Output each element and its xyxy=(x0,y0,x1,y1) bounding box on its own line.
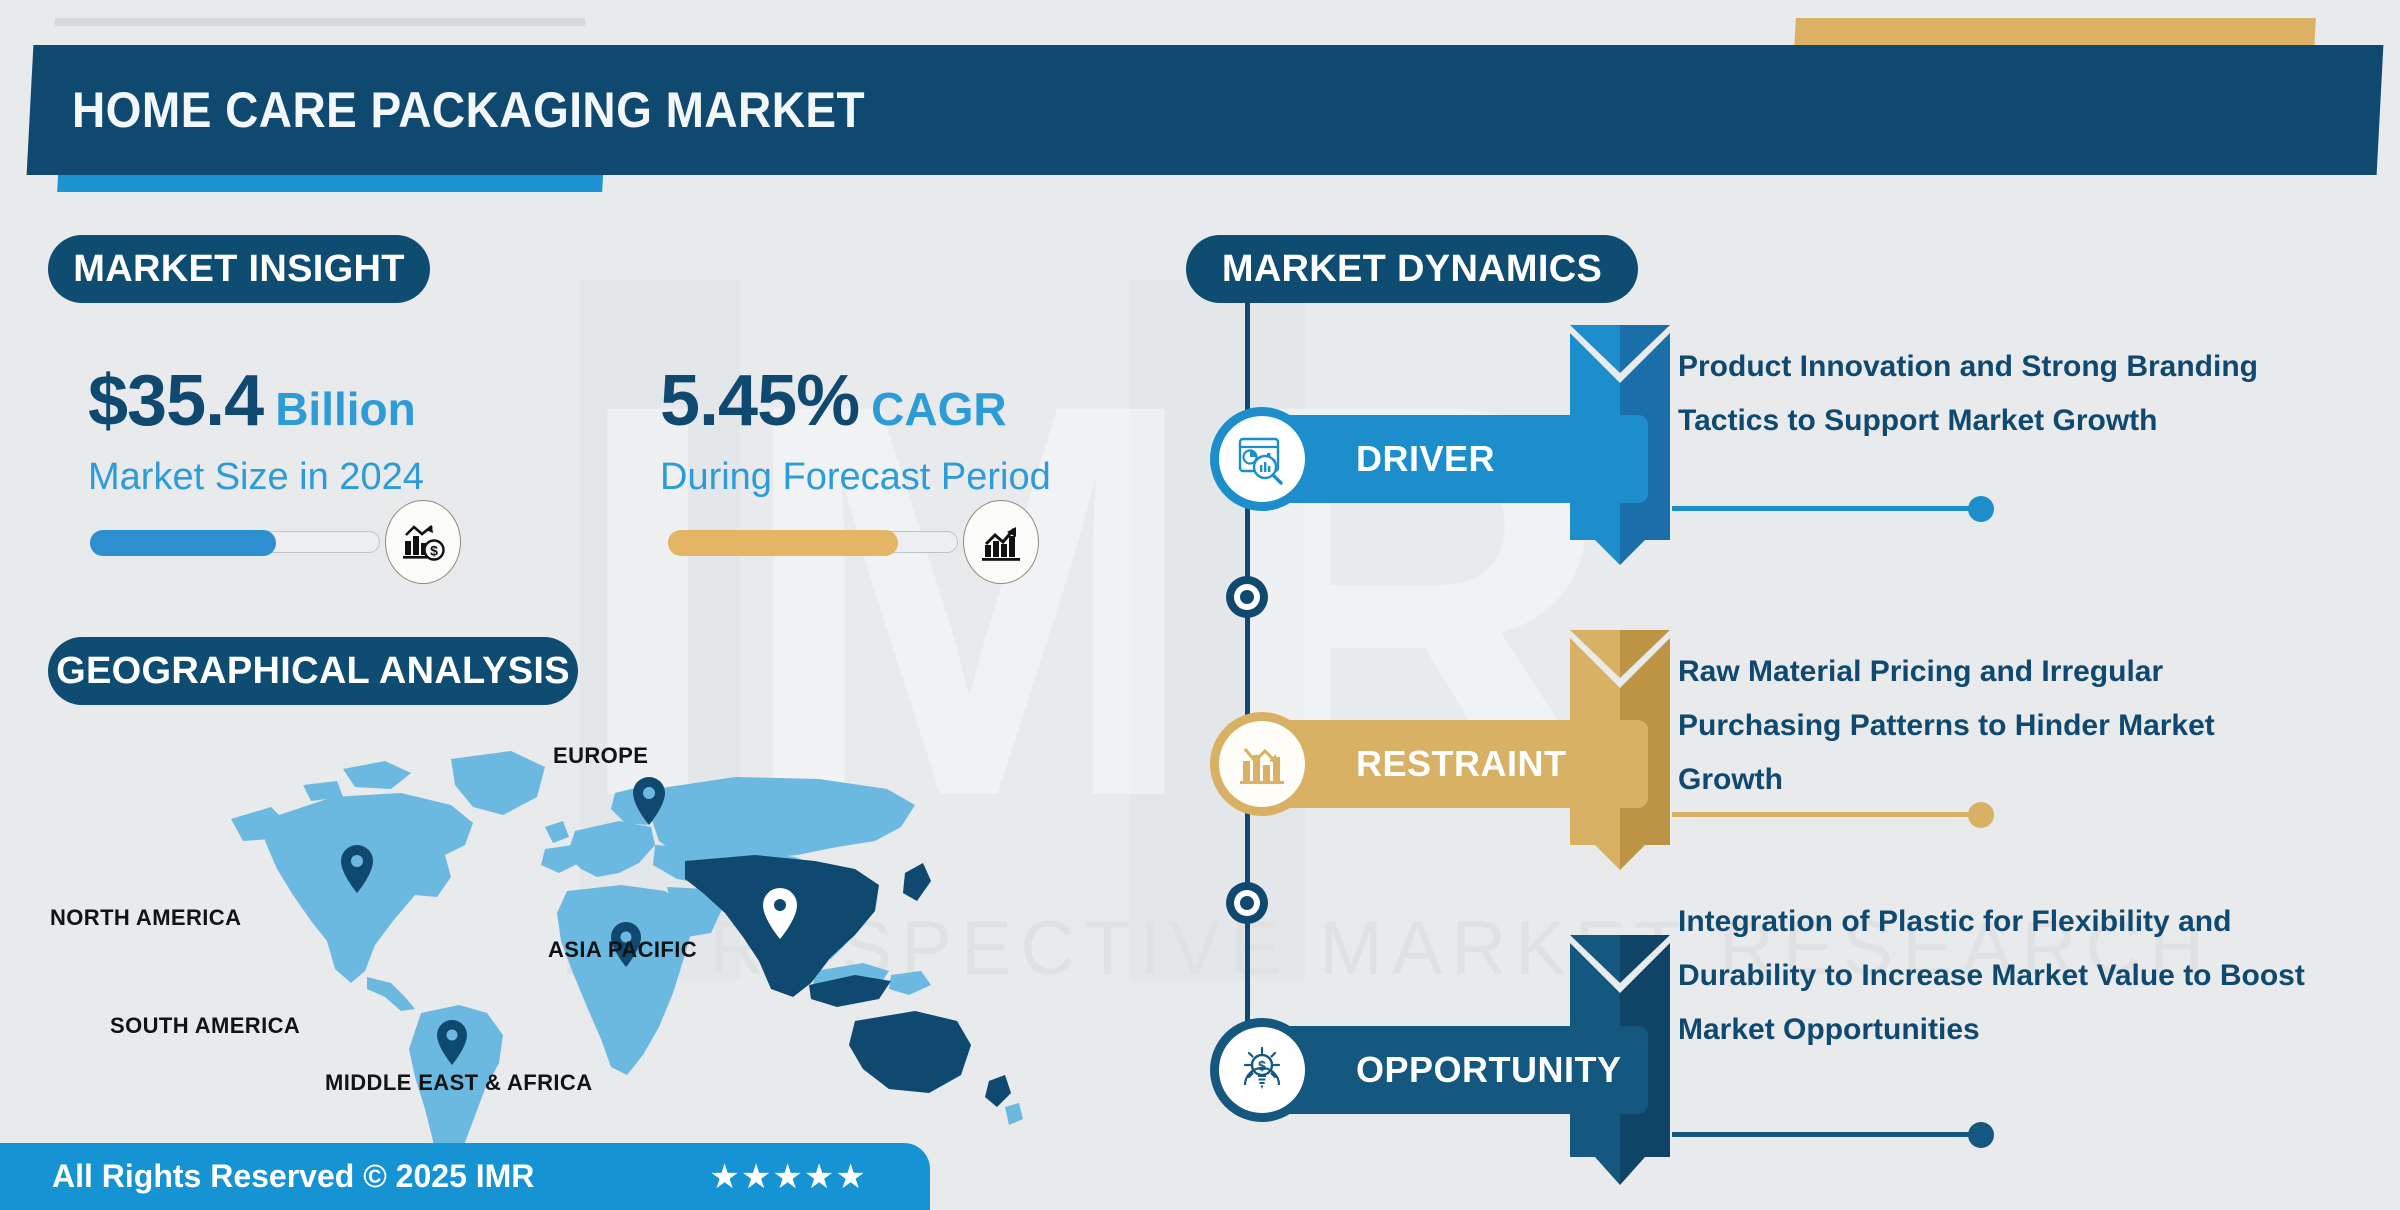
opportunity-rule xyxy=(1672,1132,1982,1137)
rating-stars: ★★★★★ xyxy=(709,1157,866,1197)
header-shadow-line xyxy=(55,18,585,26)
stat-cagr: 5.45%CAGR During Forecast Period xyxy=(660,360,1051,499)
bar-chart-dollar-icon: $ xyxy=(385,500,461,584)
restraint-end-dot xyxy=(1968,802,1994,828)
growth-arrow-icon xyxy=(963,500,1039,584)
svg-text:$: $ xyxy=(430,543,438,559)
driver-label: DRIVER xyxy=(1356,438,1495,480)
opportunity-label: OPPORTUNITY xyxy=(1356,1049,1622,1091)
page-title: HOME CARE PACKAGING MARKET xyxy=(72,80,1912,150)
world-map: NORTH AMERICA SOUTH AMERICA EUROPE MIDDL… xyxy=(215,745,1115,1205)
timeline-node-2 xyxy=(1226,882,1268,924)
infographic-root: IMR INTROSPECTIVE MARKET RESEARCH HOME C… xyxy=(0,0,2400,1210)
restraint-description: Raw Material Pricing and Irregular Purch… xyxy=(1678,645,2318,807)
market-size-progress-track xyxy=(90,531,380,553)
driver-rule xyxy=(1672,506,1982,511)
restraint-rule xyxy=(1672,812,1982,817)
map-label-middle-east-africa: MIDDLE EAST & AFRICA xyxy=(325,1070,593,1096)
market-size-progress-fill xyxy=(90,530,276,556)
timeline-node-1 xyxy=(1226,576,1268,618)
footer-bar: All Rights Reserved © 2025 IMR ★★★★★ xyxy=(0,1143,930,1210)
market-insight-heading: MARKET INSIGHT xyxy=(48,235,430,303)
dashboard-analytics-search-icon xyxy=(1232,429,1292,489)
cagr-progress-fill xyxy=(668,530,898,556)
market-dynamics-heading: MARKET DYNAMICS xyxy=(1186,235,1638,303)
stat-caption: Market Size in 2024 xyxy=(88,456,424,499)
map-label-south-america: SOUTH AMERICA xyxy=(110,1013,300,1039)
map-label-north-america: NORTH AMERICA xyxy=(50,905,241,931)
stat-market-size: $35.4Billion Market Size in 2024 xyxy=(88,360,424,499)
stat-value: $35.4 xyxy=(88,360,263,442)
restraint-badge xyxy=(1210,712,1314,816)
restraint-label: RESTRAINT xyxy=(1356,743,1567,785)
opportunity-end-dot xyxy=(1968,1122,1994,1148)
stat-unit: CAGR xyxy=(871,382,1006,436)
cagr-progress-track xyxy=(668,531,958,553)
map-label-europe: EUROPE xyxy=(553,743,648,769)
opportunity-description: Integration of Plastic for Flexibility a… xyxy=(1678,895,2318,1057)
opportunity-badge: $ xyxy=(1210,1018,1314,1122)
stat-caption: During Forecast Period xyxy=(660,456,1051,499)
copyright-text: All Rights Reserved © 2025 IMR xyxy=(52,1158,534,1195)
declining-bar-chart-icon xyxy=(1233,735,1291,793)
stat-value: 5.45% xyxy=(660,360,859,442)
map-label-asia-pacific: ASIA PACIFIC xyxy=(548,937,697,963)
driver-badge xyxy=(1210,407,1314,511)
svg-text:$: $ xyxy=(1258,1058,1266,1074)
lightbulb-dollar-icon: $ xyxy=(1233,1041,1291,1099)
driver-end-dot xyxy=(1968,496,1994,522)
stat-unit: Billion xyxy=(275,382,416,436)
geographical-analysis-heading: GEOGRAPHICAL ANALYSIS xyxy=(48,637,578,705)
driver-description: Product Innovation and Strong Branding T… xyxy=(1678,340,2318,448)
